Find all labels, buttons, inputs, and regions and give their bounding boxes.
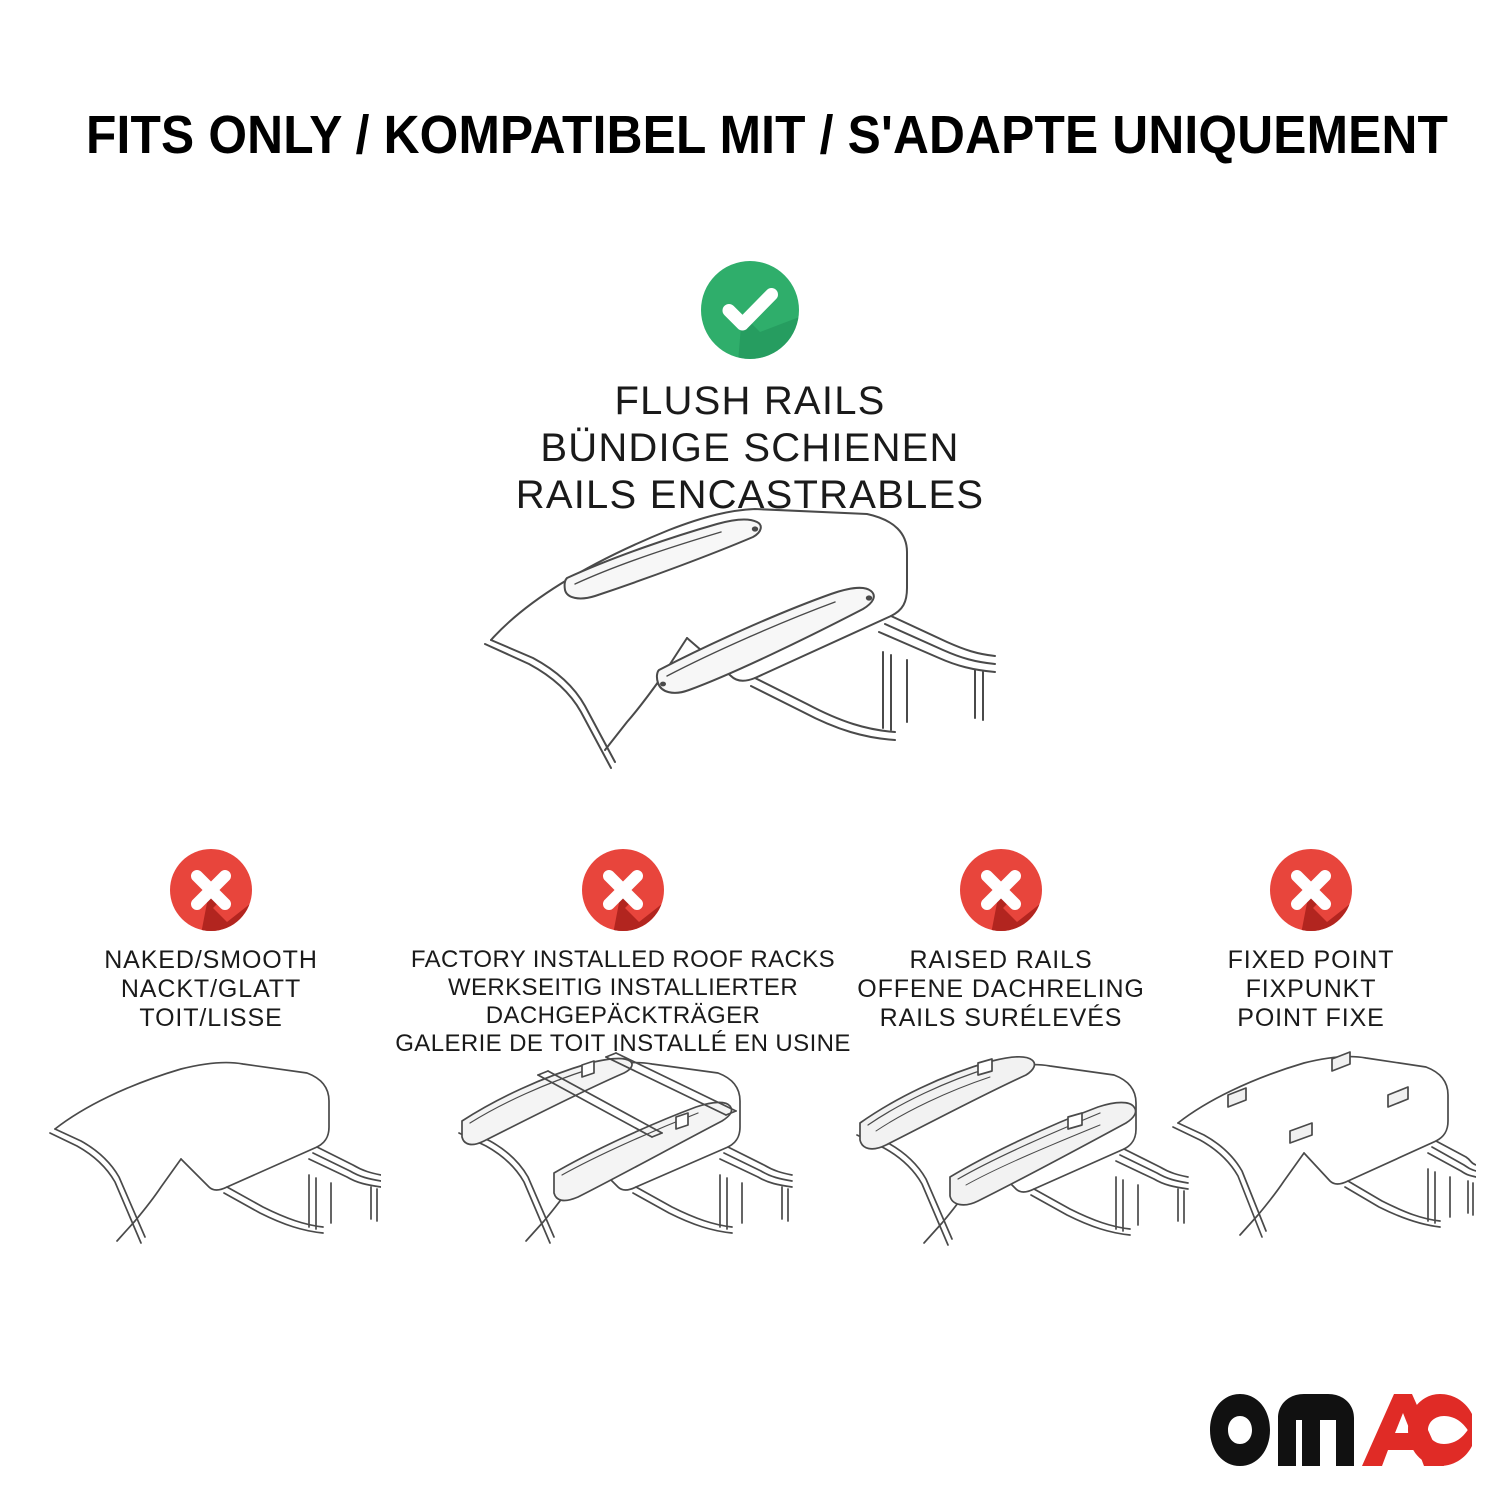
cross-circle-icon: [1267, 846, 1355, 934]
omac-logo: [1204, 1388, 1472, 1472]
label-de1: WERKSEITIG INSTALLIERTER: [392, 974, 854, 1002]
incompatible-labels-fixed-point: FIXED POINT FIXPUNKT POINT FIXE: [1166, 946, 1456, 1033]
label-de: OFFENE DACHRELING: [842, 975, 1160, 1004]
label-de: NACKT/GLATT: [40, 975, 382, 1004]
cross-circle-icon: [579, 846, 667, 934]
label-en: NAKED/SMOOTH: [40, 946, 382, 975]
incompatible-item-factory-roof-racks: FACTORY INSTALLED ROOF RACKS WERKSEITIG …: [392, 846, 854, 1058]
incompatible-labels-raised-rails: RAISED RAILS OFFENE DACHRELING RAILS SUR…: [842, 946, 1160, 1033]
incompatible-labels-naked-smooth: NAKED/SMOOTH NACKT/GLATT TOIT/LISSE: [40, 946, 382, 1033]
car-roof-fixed-point-illustration: [1166, 1051, 1456, 1281]
label-fr: RAILS SURÉLEVÉS: [842, 1004, 1160, 1033]
label-de: FIXPUNKT: [1166, 975, 1456, 1004]
label-en: FACTORY INSTALLED ROOF RACKS: [392, 946, 854, 974]
label-en: RAISED RAILS: [842, 946, 1160, 975]
compatible-section: FLUSH RAILS BÜNDIGE SCHIENEN RAILS ENCAS…: [0, 258, 1500, 519]
car-roof-naked-smooth-illustration: [40, 1051, 382, 1281]
cross-circle-icon: [167, 846, 255, 934]
incompatible-item-naked-smooth: NAKED/SMOOTH NACKT/GLATT TOIT/LISSE: [40, 846, 382, 1033]
page-title: FITS ONLY / KOMPATIBEL MIT / S'ADAPTE UN…: [86, 104, 1319, 166]
incompatible-item-raised-rails: RAISED RAILS OFFENE DACHRELING RAILS SUR…: [842, 846, 1160, 1033]
car-roof-raised-rails-illustration: [842, 1051, 1160, 1281]
label-fr: TOIT/LISSE: [40, 1004, 382, 1033]
incompatible-item-fixed-point: FIXED POINT FIXPUNKT POINT FIXE: [1166, 846, 1456, 1033]
check-circle-icon: [698, 258, 802, 362]
label-fr: POINT FIXE: [1166, 1004, 1456, 1033]
car-roof-with-flush-rails-illustration: [455, 492, 1055, 792]
cross-circle-icon: [957, 846, 1045, 934]
compatible-label-de: BÜNDIGE SCHIENEN: [0, 425, 1500, 472]
label-en: FIXED POINT: [1166, 946, 1456, 975]
incompatible-labels-factory-roof-racks: FACTORY INSTALLED ROOF RACKS WERKSEITIG …: [392, 946, 854, 1058]
incompatible-section: NAKED/SMOOTH NACKT/GLATT TOIT/LISSE: [0, 846, 1500, 1316]
label-de2: DACHGEPÄCKTRÄGER: [392, 1002, 854, 1030]
compatible-label-en: FLUSH RAILS: [0, 378, 1500, 425]
car-roof-factory-roof-racks-illustration: [392, 1051, 854, 1281]
